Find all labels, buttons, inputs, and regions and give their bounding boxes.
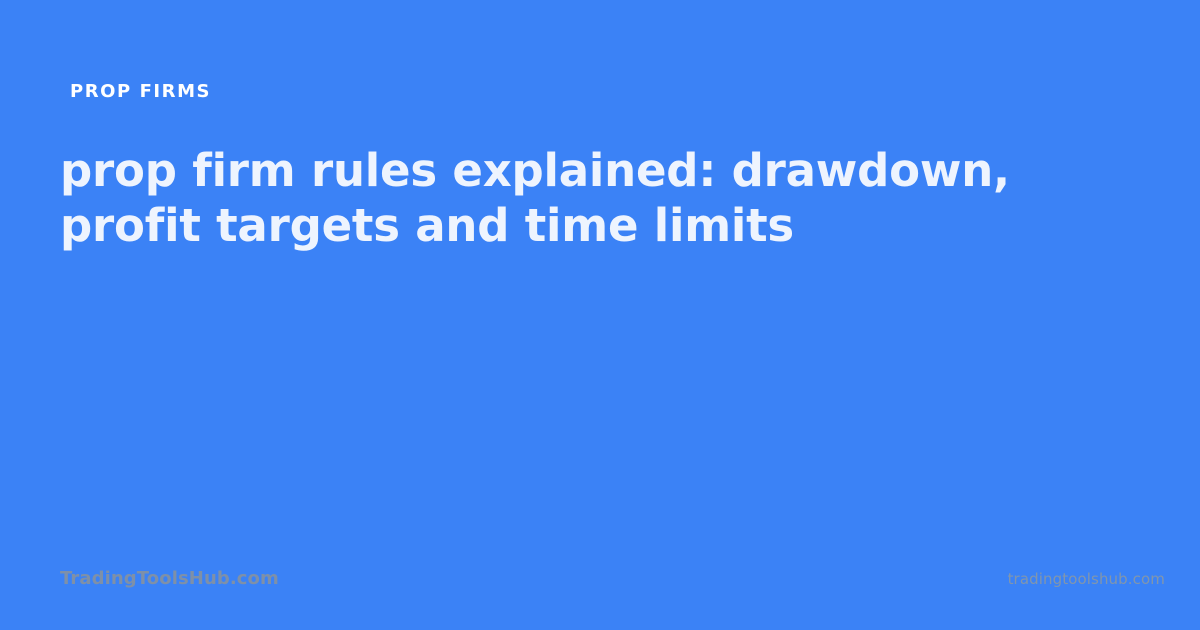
- category-kicker: PROP FIRMS: [70, 82, 211, 102]
- social-share-card: PROP FIRMS prop firm rules explained: dr…: [0, 0, 1200, 630]
- page-title: prop firm rules explained: drawdown, pro…: [60, 143, 1060, 253]
- headline-line-2: profit targets and time limits: [60, 198, 1060, 253]
- brand-wordmark: TradingToolsHub.com: [60, 568, 279, 590]
- headline-line-1: prop firm rules explained: drawdown,: [60, 143, 1060, 198]
- site-domain-label: tradingtoolshub.com: [1008, 570, 1165, 588]
